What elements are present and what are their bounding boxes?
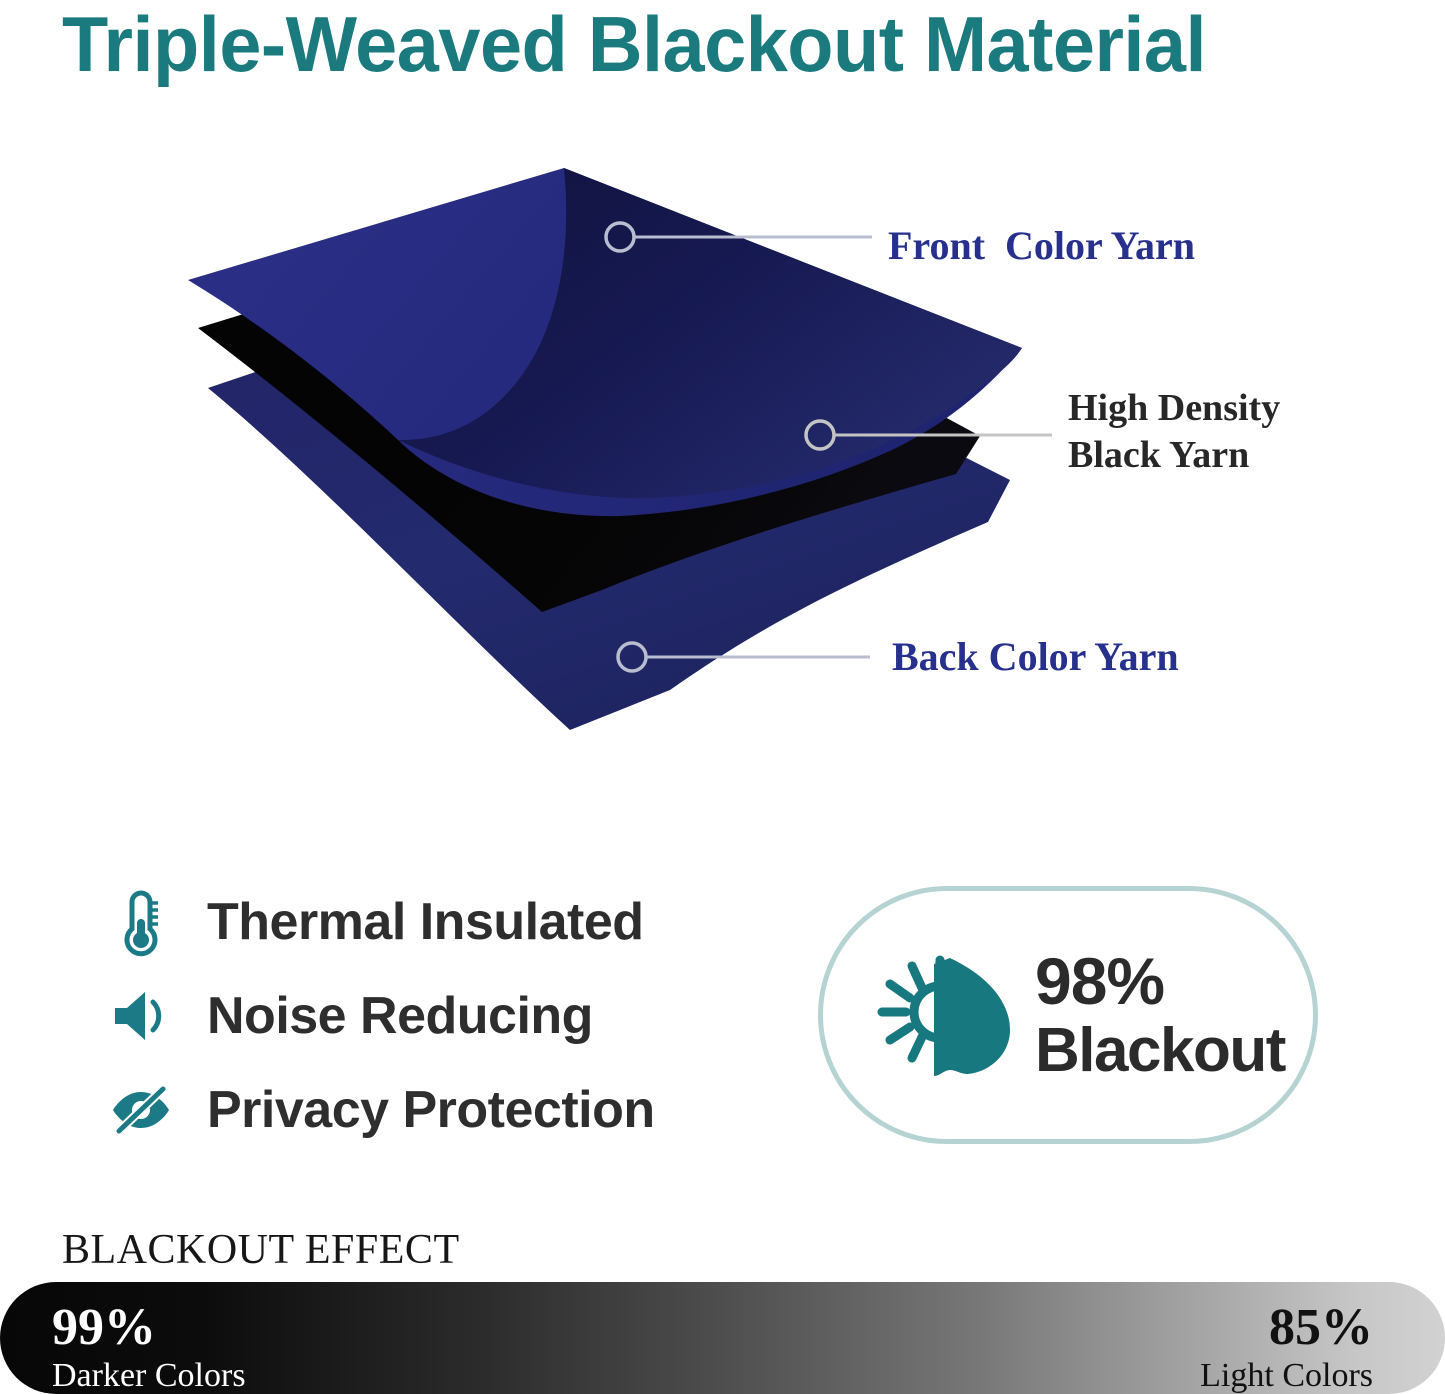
stat-label: Light Colors bbox=[1200, 1356, 1373, 1394]
callout-label-middle-line1: High Density bbox=[1068, 387, 1280, 429]
blackout-effect-heading: BLACKOUT EFFECT bbox=[62, 1226, 460, 1274]
callout-leader-middle bbox=[800, 410, 1060, 460]
callout-leader-front bbox=[600, 212, 900, 262]
eye-slash-icon bbox=[105, 1074, 177, 1146]
feature-label: Noise Reducing bbox=[207, 986, 593, 1046]
feature-noise-reducing: Noise Reducing bbox=[105, 972, 745, 1060]
feature-list: Thermal Insulated Noise Reducing Privacy… bbox=[105, 878, 745, 1160]
callout-label-middle-line2: Black Yarn bbox=[1068, 434, 1249, 476]
feature-label: Privacy Protection bbox=[207, 1080, 655, 1140]
callout-circle-icon bbox=[806, 421, 834, 449]
callout-label-back: Back Color Yarn bbox=[892, 633, 1179, 680]
callout-label-middle: High DensityBlack Yarn bbox=[1068, 385, 1280, 479]
blackout-stat-darker: 99% Darker Colors bbox=[52, 1300, 246, 1394]
callout-circle-icon bbox=[606, 223, 634, 251]
badge-text: 98% Blackout bbox=[1035, 948, 1285, 1082]
stat-percent: 99% bbox=[52, 1300, 246, 1356]
blackout-stat-light: 85% Light Colors bbox=[1200, 1300, 1373, 1394]
page-title: Triple-Weaved Blackout Material bbox=[62, 0, 1362, 92]
thermometer-icon bbox=[105, 886, 177, 958]
feature-privacy-protection: Privacy Protection bbox=[105, 1066, 745, 1154]
callout-circle-icon bbox=[618, 643, 646, 671]
badge-word: Blackout bbox=[1035, 1020, 1285, 1082]
feature-thermal-insulated: Thermal Insulated bbox=[105, 878, 745, 966]
callout-leader-back bbox=[612, 632, 892, 682]
speaker-icon bbox=[105, 980, 177, 1052]
sun-blocked-icon bbox=[859, 940, 1029, 1090]
blackout-badge: 98% Blackout bbox=[818, 886, 1318, 1144]
blackout-effect-gradient-bar: 99% Darker Colors 85% Light Colors bbox=[0, 1282, 1445, 1394]
stat-percent: 85% bbox=[1200, 1300, 1373, 1356]
callout-label-front: Front Color Yarn bbox=[888, 222, 1195, 269]
badge-percent: 98% bbox=[1035, 948, 1285, 1014]
stat-label: Darker Colors bbox=[52, 1356, 246, 1394]
feature-label: Thermal Insulated bbox=[207, 892, 644, 952]
